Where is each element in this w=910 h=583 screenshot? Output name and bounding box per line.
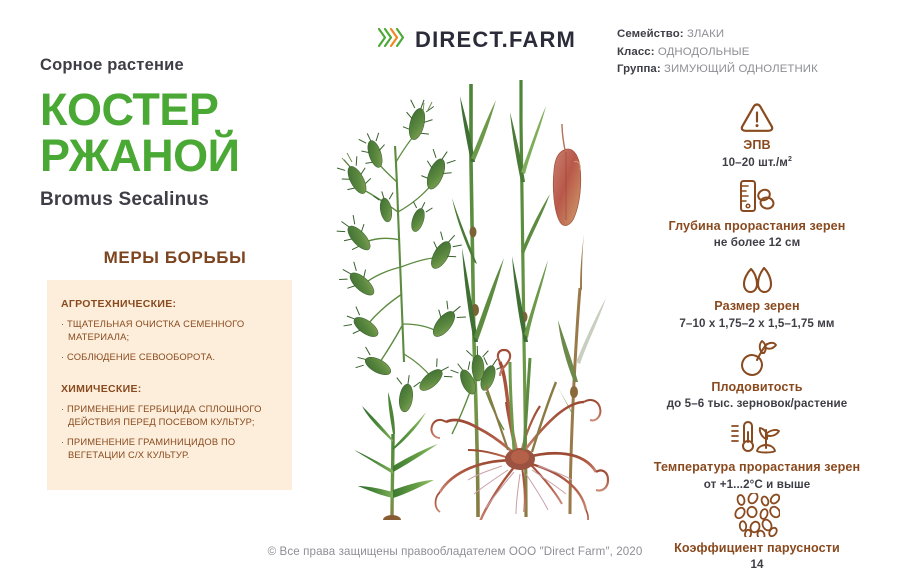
fact-windage-coefficient: Коэффициент парусности 14 [612,495,902,572]
taxonomy-value-class: ОДНОДОЛЬНЫЕ [658,46,750,58]
latin-name: Bromus Secalinus [40,189,310,211]
seedling-group [354,392,438,520]
title-block: Сорное растение КОСТЕР РЖАНОЙ Bromus Sec… [40,56,310,211]
fact-fertility: Плодовитость до 5–6 тыс. зерновок/растен… [612,334,902,411]
measures-group-heading-agrotechnical: АГРОТЕХНИЧЕСКИЕ: [61,298,280,310]
page-title: КОСТЕР РЖАНОЙ [40,87,310,179]
measures-item: · СОБЛЮДЕНИЕ СЕВООБОРОТА. [61,350,280,363]
fact-label: Глубина прорастания зерен [612,219,902,234]
facts-list: ЭПВ 10–20 шт./м2 Глубина прорастания зер… [612,92,902,575]
fact-germination-temperature: Температура прорастания зерен от +1...2°… [612,414,902,491]
fact-label: Размер зерен [612,299,902,314]
taxonomy-row-group: Группа: ЗИМУЮЩИЙ ОДНОЛЕТНИК [617,61,897,79]
measures-item: · ПРИМЕНЕНИЕ ГРАМИНИЦИДОВ ПО ВЕГЕТАЦИИ С… [61,435,280,461]
page-title-line2: РЖАНОЙ [40,133,310,179]
brand-logo[interactable]: DIRECT.FARM [378,27,576,53]
chevron-wave-icon [378,28,404,52]
fact-value: 14 [612,558,902,571]
sprouting-seed-icon [612,334,902,376]
fact-label: Температура прорастания зерен [612,460,902,475]
ruler-seeds-icon [612,173,902,215]
culm-group [449,84,505,517]
taxonomy-value-family: ЗЛАКИ [687,28,724,40]
taxonomy-label-class: Класс: [617,46,655,58]
fact-value-text: 10–20 шт./м [722,156,788,169]
taxonomy-block: Семейство: ЗЛАКИ Класс: ОДНОДОЛЬНЫЕ Груп… [617,26,897,79]
fact-value: от +1...2°С и выше [612,478,902,491]
fact-label: Плодовитость [612,380,902,395]
fact-label: ЭПВ [612,138,902,153]
measures-item: · ТЩАТЕЛЬНАЯ ОЧИСТКА СЕМЕННОГО МАТЕРИАЛА… [61,317,280,343]
root-system [431,350,608,520]
seed-detail [553,124,581,225]
fact-value-superscript: 2 [788,156,792,163]
scattered-seeds-icon [612,495,902,537]
fact-value: до 5–6 тыс. зерновок/растение [612,397,902,410]
taxonomy-row-family: Семейство: ЗЛАКИ [617,26,897,44]
fact-value: 7–10 x 1,75–2 x 1,5–1,75 мм [612,317,902,330]
taxonomy-row-class: Класс: ОДНОДОЛЬНЫЕ [617,44,897,62]
fact-germination-depth: Глубина прорастания зерен не более 12 см [612,173,902,250]
footer-copyright: © Все права защищены правообладателем ОО… [0,545,910,558]
measures-group-heading-chemical: ХИМИЧЕСКИЕ: [61,383,280,395]
warning-triangle-icon [612,92,902,134]
page-title-line1: КОСТЕР [40,87,310,133]
two-seeds-icon [612,253,902,295]
fact-grain-size: Размер зерен 7–10 x 1,75–2 x 1,5–1,75 мм [612,253,902,330]
infographic-page: Сорное растение КОСТЕР РЖАНОЙ Bromus Sec… [0,0,910,583]
panicle-group [333,97,469,414]
taxonomy-label-group: Группа: [617,63,661,75]
fact-value: 10–20 шт./м2 [612,156,902,169]
thermometer-sprout-icon [612,414,902,456]
fact-value: не более 12 см [612,236,902,249]
measures-title: МЕРЫ БОРЬБЫ [40,248,310,268]
measures-item: · ПРИМЕНЕНИЕ ГЕРБИЦИДА СПЛОШНОГО ДЕЙСТВИ… [61,402,280,428]
measures-box: АГРОТЕХНИЧЕСКИЕ: · ТЩАТЕЛЬНАЯ ОЧИСТКА СЕ… [47,280,292,490]
taxonomy-label-family: Семейство: [617,28,684,40]
bromus-secalinus-illustration [318,62,610,520]
kicker-text: Сорное растение [40,56,310,75]
fact-epv: ЭПВ 10–20 шт./м2 [612,92,902,169]
taxonomy-value-group: ЗИМУЮЩИЙ ОДНОЛЕТНИК [664,63,818,75]
brand-logo-text: DIRECT.FARM [415,27,576,53]
